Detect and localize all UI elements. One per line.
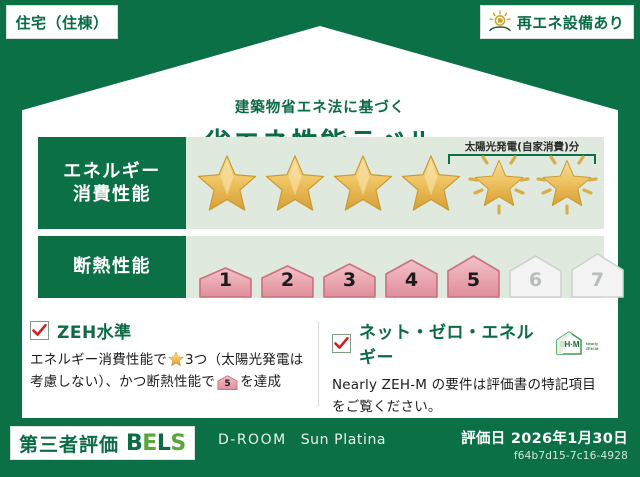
insulation-level-number: 2 bbox=[258, 269, 317, 291]
star-filled bbox=[398, 149, 464, 217]
netzero-description: Nearly ZEH-M の要件は評価書の特記項目をご覧ください。 bbox=[332, 375, 600, 419]
insulation-level: 4 bbox=[382, 258, 441, 298]
insulation-level: 3 bbox=[320, 262, 379, 298]
svg-text:H·M: H·M bbox=[564, 340, 579, 349]
insulation-level: 2 bbox=[258, 264, 317, 298]
star-icon bbox=[473, 158, 525, 208]
property-name: D-ROOMSun Platina bbox=[218, 432, 386, 448]
energy-row-body: 太陽光発電(自家消費)分 bbox=[186, 137, 604, 229]
insulation-level-number: 1 bbox=[196, 269, 255, 291]
insulation-level-number: 4 bbox=[382, 269, 441, 291]
insulation-level-number: 3 bbox=[320, 269, 379, 291]
third-party-eval-label: 第三者評価 bbox=[19, 430, 119, 457]
bels-letter-e: E bbox=[142, 431, 157, 456]
checkbox-checked-icon bbox=[30, 321, 49, 340]
insulation-row-header: 断熱性能 bbox=[38, 236, 186, 298]
star-solar bbox=[466, 149, 532, 217]
star-icon bbox=[264, 153, 326, 213]
net-zero-block: ネット・ゼロ・エネルギー H·M Nearly ZEH-M Nearly ZEH… bbox=[320, 318, 610, 410]
evaluation-id: f64b7d15-7c16-4928 bbox=[461, 450, 628, 462]
netzero-heading-row: ネット・ゼロ・エネルギー H·M Nearly ZEH-M bbox=[332, 318, 600, 368]
star-filled bbox=[330, 149, 396, 217]
netzero-heading: ネット・ゼロ・エネルギー bbox=[359, 318, 546, 368]
zeh-body-3: を達成 bbox=[240, 374, 281, 390]
bels-badge: 第三者評価 BELS bbox=[10, 426, 195, 460]
insulation-level: 5 bbox=[444, 254, 503, 298]
renewable-label: 再エネ設備あり bbox=[517, 12, 624, 33]
zeh-heading: ZEH水準 bbox=[57, 318, 132, 343]
nearly-zeh-m-logo-icon: H·M Nearly ZEH-M bbox=[554, 330, 600, 356]
insulation-level: 1 bbox=[196, 266, 255, 298]
zeh-heading-row: ZEH水準 bbox=[30, 318, 310, 343]
star-icon bbox=[400, 153, 462, 213]
property-title: Sun Platina bbox=[301, 432, 386, 448]
insulation-level-number: 7 bbox=[568, 269, 627, 291]
bels-letter-s: S bbox=[170, 431, 185, 456]
housing-type-label: 住宅（住棟） bbox=[15, 12, 108, 33]
title-subtitle: 建築物省エネ法に基づく bbox=[0, 96, 640, 117]
energy-performance-row: エネルギー 消費性能 太陽光発電(自家消費)分 bbox=[38, 137, 604, 229]
label-footer: 第三者評価 BELS D-ROOMSun Platina 評価日 2026年1月… bbox=[0, 418, 640, 477]
evaluation-date: 評価日 2026年1月30日 bbox=[461, 427, 628, 448]
energy-performance-label: 住宅（住棟） 再エネ設備あり 建築物省エネ法に基づく 省エネ性能ラベル bbox=[0, 0, 640, 477]
energy-head-line2: 消費性能 bbox=[73, 183, 151, 206]
checkbox-checked-icon bbox=[332, 334, 351, 353]
insulation-level-number: 5 bbox=[444, 269, 503, 291]
bels-letter-l: L bbox=[157, 431, 171, 456]
insulation-level: 6 bbox=[506, 254, 565, 298]
svg-text:ZEH-M: ZEH-M bbox=[586, 346, 599, 351]
insulation-level: 7 bbox=[568, 252, 627, 298]
star-icon bbox=[168, 351, 184, 367]
zeh-description: エネルギー消費性能で3つ（太陽光発電は考慮しない）、かつ断熱性能で5を達成 bbox=[30, 350, 310, 394]
criteria-columns: ZEH水準 エネルギー消費性能で3つ（太陽光発電は考慮しない）、かつ断熱性能で5… bbox=[30, 318, 610, 410]
property-brand: D-ROOM bbox=[218, 432, 287, 448]
bels-letter-b: B bbox=[126, 431, 142, 456]
insulation-performance-row: 断熱性能 1 2 bbox=[38, 236, 604, 298]
housing-type-badge: 住宅（住棟） bbox=[6, 5, 118, 39]
star-icon bbox=[332, 153, 394, 213]
insulation-scale: 1 2 3 4 bbox=[196, 236, 627, 298]
energy-head-line1: エネルギー bbox=[63, 160, 161, 183]
zeh-body-1: エネルギー消費性能で bbox=[30, 352, 167, 368]
column-divider bbox=[318, 322, 319, 406]
energy-row-header: エネルギー 消費性能 bbox=[38, 137, 186, 229]
renewable-equipment-badge: 再エネ設備あり bbox=[480, 5, 634, 39]
star-filled bbox=[262, 149, 328, 217]
star-rating bbox=[194, 137, 600, 229]
zeh-standard-block: ZEH水準 エネルギー消費性能で3つ（太陽光発電は考慮しない）、かつ断熱性能で5… bbox=[30, 318, 320, 410]
evaluation-info: 評価日 2026年1月30日 f64b7d15-7c16-4928 bbox=[461, 427, 628, 462]
star-icon bbox=[541, 158, 593, 208]
sun-icon bbox=[487, 10, 513, 34]
insulation-level-number: 6 bbox=[506, 269, 565, 291]
house-number: 5 bbox=[217, 377, 238, 392]
insulation-head-label: 断熱性能 bbox=[73, 255, 151, 278]
insulation-row-body: 1 2 3 4 bbox=[186, 236, 604, 298]
star-solar bbox=[534, 149, 600, 217]
star-filled bbox=[194, 149, 260, 217]
bels-logo: BELS bbox=[126, 431, 186, 456]
house-icon: 5 bbox=[217, 375, 238, 390]
star-icon bbox=[196, 153, 258, 213]
